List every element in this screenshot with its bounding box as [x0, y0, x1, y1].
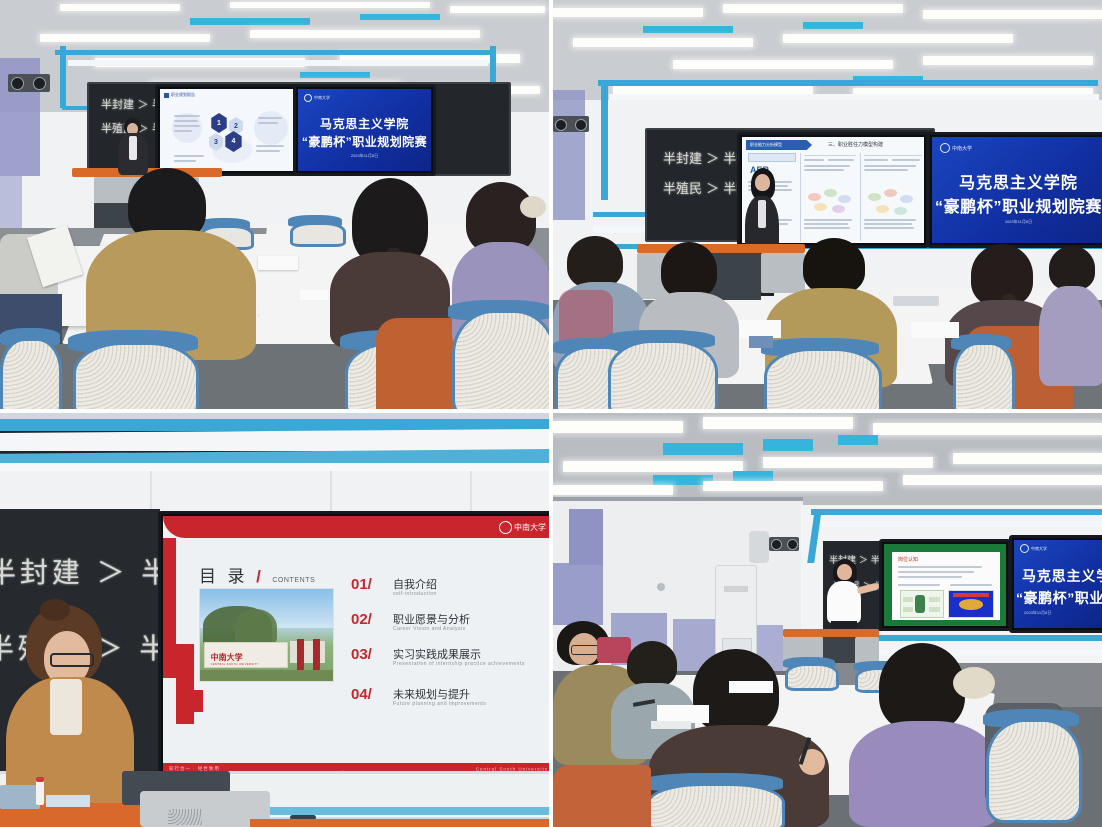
camera-icon — [8, 74, 50, 92]
contents-list: 01/ 自我介绍 self-introduction 02/ 职业愿景与分析 C… — [351, 576, 541, 721]
contents-item-number: 02/ — [351, 611, 372, 628]
contents-item[interactable]: 03/ 实习实践成果展示 Presentation of internship … — [351, 646, 541, 680]
display-right-title-slide: 中南大学 马克思主义学院 “豪鹏杯”职业规划院赛 2023年11月8日 — [927, 132, 1102, 248]
title-line-2: “豪鹏杯”职业规划院赛 — [298, 133, 431, 150]
contents-item-title-en: self-introduction — [393, 591, 437, 597]
panel-top-right: 半封建 ＞ 半资本 半殖民 ＞ 半独立 职业能力分析模型 三、职业胜任力模型构建… — [553, 0, 1102, 409]
campus-gate-photo: 中南大学 CENTRAL SOUTH UNIVERSITY — [199, 588, 334, 682]
door-handle — [657, 583, 665, 591]
glasses-icon — [50, 653, 94, 667]
contents-item[interactable]: 04/ 未来规划与提升 Future planning and improvem… — [351, 686, 541, 717]
audience-member-5 — [1039, 246, 1102, 382]
hex-slide-header: 职业规划报告 — [171, 92, 195, 98]
contents-item-title-en: Career Vision and Analysis — [393, 626, 466, 632]
slide-banner-label: 三、职业胜任力模型构建 — [828, 141, 883, 148]
university-logo: 中南大学 — [304, 94, 330, 102]
title-date: 2023年11月8日 — [1024, 610, 1102, 616]
photo-collage: 半封建 ＞ 半资本 半殖民 ＞ 半独立 职业规划报告 — [0, 0, 1102, 827]
contents-item-number: 01/ — [351, 576, 372, 593]
title-date: 2023年11月8日 — [932, 219, 1102, 225]
presenter-standing — [115, 118, 151, 174]
university-name: 中南大学 — [314, 95, 330, 101]
university-name: 中南大学 — [1031, 546, 1047, 552]
title-line-2: “豪鹏杯”职业规划院赛 — [1016, 588, 1102, 608]
university-logo: 中南大学 — [1020, 544, 1047, 553]
panel-bottom-right: 半封建 ＞ 半资本 半殖民 ＞ 半独立 岗位认知 — [553, 413, 1102, 827]
contents-item-title-cn: 未来规划与提升 — [393, 686, 470, 702]
panel-top-left: 半封建 ＞ 半资本 半殖民 ＞ 半独立 职业规划报告 — [0, 0, 549, 409]
display-right-title-slide: 中南大学 马克思主义学院 “豪鹏杯”职业规划院赛 2023年11月8日 — [1009, 535, 1102, 633]
title-line-1: 马克思主义学院 — [1022, 566, 1102, 586]
contents-heading-cn: 目 录 — [199, 567, 248, 586]
display-right-title-slide: 中南大学 马克思主义学院 “豪鹏杯”职业规划院赛 2023年11月8日 — [293, 84, 436, 176]
glasses-icon — [571, 645, 599, 655]
contents-heading-sep: / — [256, 567, 264, 586]
coat-on-chair — [553, 765, 651, 827]
title-date: 2023年11月8日 — [298, 153, 431, 159]
green-slide-title: 岗位认知 — [898, 556, 918, 563]
camera-icon — [553, 116, 589, 132]
hair-scrunchie — [520, 196, 546, 218]
university-name: 中南大学 — [952, 145, 972, 152]
contents-item[interactable]: 02/ 职业愿景与分析 Career Vision and Analysis — [351, 611, 541, 642]
gate-caption-en: CENTRAL SOUTH UNIVERSITY — [211, 663, 259, 666]
slide-logo-mark — [164, 93, 169, 98]
display-left-hex-slide: 职业规划报告 — [155, 84, 298, 176]
contents-item-number: 03/ — [351, 646, 372, 663]
slide-ribbon-label: 职业能力分析模型 — [750, 142, 782, 148]
contents-item-title-en: Future planning and improvements — [393, 701, 486, 707]
contents-item-title-en: Presentation of internship practice achi… — [393, 661, 543, 669]
contents-item-number: 04/ — [351, 686, 372, 703]
contents-item-title-cn: 实习实践成果展示 — [393, 646, 481, 662]
water-bottle — [36, 779, 44, 805]
contents-item-title-cn: 自我介绍 — [393, 576, 437, 592]
hair-bun — [40, 599, 70, 621]
university-name: 中南大学 — [514, 522, 546, 533]
audience-member-4 — [0, 212, 66, 342]
hex-2: 2 — [228, 117, 244, 135]
contents-heading: 目 录 / CONTENTS — [199, 562, 315, 587]
title-line-1: 马克思主义学院 — [932, 169, 1102, 193]
console-speaker-grille — [168, 809, 202, 825]
wall-speaker — [749, 531, 769, 563]
contents-item[interactable]: 01/ 自我介绍 self-introduction — [351, 576, 541, 607]
hair-scrunchie — [953, 667, 995, 699]
camera-icon — [769, 537, 799, 551]
gate-caption-cn: 中南大学 — [211, 652, 243, 663]
title-line-2: “豪鹏杯”职业规划院赛 — [932, 193, 1102, 217]
collage-horizontal-gap — [0, 409, 1102, 413]
university-logo: 中南大学 — [499, 521, 546, 534]
hex-1: 1 — [210, 113, 228, 133]
display-middle-green-slide: 岗位认知 — [879, 539, 1011, 631]
display-contents-slide: 中南大学 目 录 / CONTENTS — [158, 511, 549, 779]
paper-sheet — [46, 795, 90, 807]
contents-item-title-cn: 职业愿景与分析 — [393, 611, 470, 627]
contents-heading-en: CONTENTS — [272, 577, 315, 584]
university-logo: 中南大学 — [940, 143, 972, 153]
title-line-1: 马克思主义学院 — [298, 115, 431, 132]
audience-member-4 — [849, 643, 999, 827]
collage-vertical-gap — [549, 0, 553, 827]
panel-bottom-left: 半封建 ＞ 半资本 半殖民 ＞ 半独立 中南大学 — [0, 413, 549, 827]
